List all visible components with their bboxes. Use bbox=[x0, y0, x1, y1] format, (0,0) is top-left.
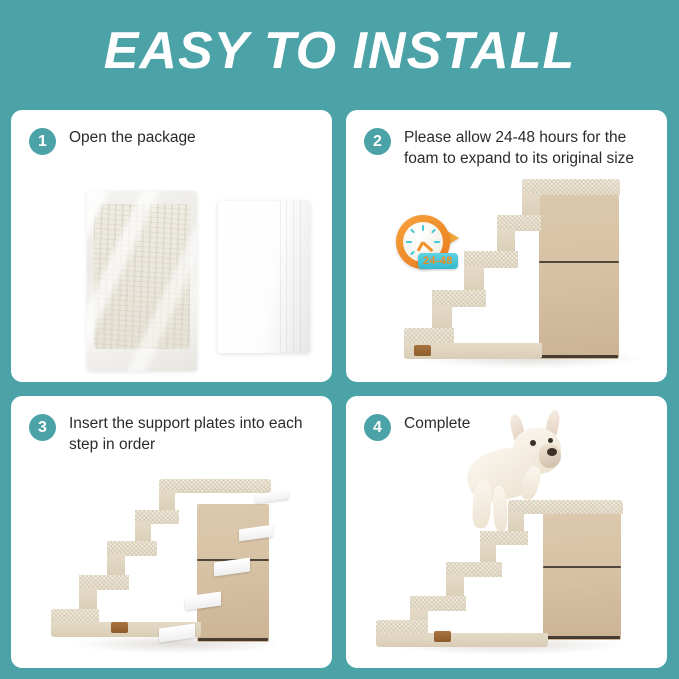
dog-eye-left bbox=[530, 440, 536, 446]
page-title: EASY TO INSTALL bbox=[0, 20, 679, 82]
stairs-side-panel bbox=[543, 512, 621, 640]
pet-stairs-with-plates bbox=[51, 474, 311, 654]
stairs-zipper bbox=[543, 566, 621, 568]
brand-tag bbox=[434, 631, 451, 642]
step-card-1: 1 Open the package bbox=[11, 110, 332, 382]
support-plates-stack bbox=[218, 201, 310, 353]
step-1-illustration bbox=[11, 188, 332, 378]
stairs-riser-1 bbox=[376, 633, 548, 647]
step-2-header: 2 Please allow 24-48 hours for the foam … bbox=[364, 127, 653, 169]
step-card-2: 2 Please allow 24-48 hours for the foam … bbox=[346, 110, 667, 382]
steps-grid: 1 Open the package 2 Please allow 24-48 … bbox=[11, 110, 668, 668]
brand-tag bbox=[111, 622, 128, 633]
step-1-header: 1 Open the package bbox=[29, 127, 318, 155]
step-number-badge-4: 4 bbox=[364, 414, 391, 441]
pet-stairs-complete bbox=[368, 470, 653, 655]
step-number-badge-3: 3 bbox=[29, 414, 56, 441]
stairs-tread-5 bbox=[159, 479, 271, 493]
stairs-side-panel bbox=[539, 189, 619, 359]
step-3-header: 3 Insert the support plates into each st… bbox=[29, 413, 318, 455]
brand-tag bbox=[414, 345, 431, 356]
pet-stairs-expanded bbox=[404, 165, 659, 370]
step-number-badge-1: 1 bbox=[29, 128, 56, 155]
step-2-label: Please allow 24-48 hours for the foam to… bbox=[404, 127, 644, 169]
sealed-foam-bag bbox=[87, 191, 197, 371]
step-number-badge-2: 2 bbox=[364, 128, 391, 155]
step-3-label: Insert the support plates into each step… bbox=[69, 413, 309, 455]
stairs-tread-5 bbox=[508, 500, 623, 514]
stairs-base-shadow bbox=[544, 636, 620, 639]
dog-eye-right bbox=[548, 438, 553, 443]
step-card-4: 4 Complete bbox=[346, 396, 667, 668]
stairs-base-shadow bbox=[540, 355, 618, 358]
step-1-label: Open the package bbox=[69, 127, 196, 148]
stairs-zipper bbox=[539, 261, 619, 263]
infographic-page: EASY TO INSTALL 1 Open the package 2 Ple… bbox=[0, 0, 679, 679]
dog-nose bbox=[547, 448, 557, 456]
stairs-base-shadow bbox=[198, 638, 268, 641]
step-card-3: 3 Insert the support plates into each st… bbox=[11, 396, 332, 668]
